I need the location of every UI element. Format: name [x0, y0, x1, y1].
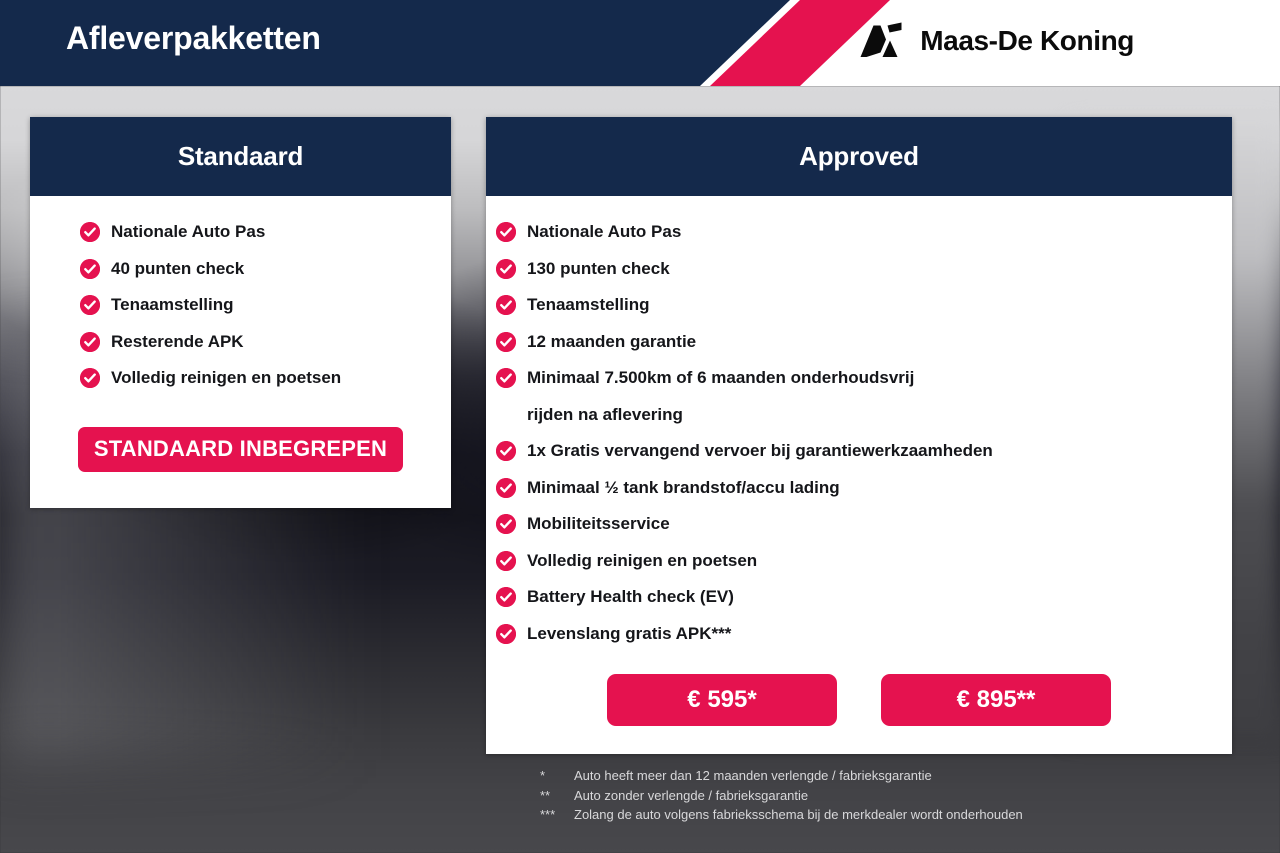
check-circle-icon [496, 259, 516, 279]
footnote-marker: ** [540, 786, 574, 806]
page-title: Afleverpakketten [66, 20, 321, 57]
footnote-text: Auto heeft meer dan 12 maanden verlengde… [574, 766, 932, 786]
footnote-row: *** Zolang de auto volgens fabrieksschem… [540, 805, 1023, 825]
package-header-standaard: Standaard [30, 117, 451, 196]
footnote-marker: * [540, 766, 574, 786]
price-button-row: € 595* € 895** [486, 652, 1232, 754]
afleverpakketten-page: Afleverpakketten Maas-De Koning Standaar… [0, 0, 1280, 853]
package-body-approved: Nationale Auto Pas 130 punten check Tena… [486, 196, 1232, 754]
price-button-595[interactable]: € 595* [607, 674, 837, 726]
feature-label: 12 maanden garantie [527, 324, 696, 361]
list-item: 1x Gratis vervangend vervoer bij garanti… [496, 433, 1232, 470]
check-circle-icon [496, 222, 516, 242]
list-item: Tenaamstelling [496, 287, 1232, 324]
page-header: Afleverpakketten Maas-De Koning [0, 0, 1280, 86]
feature-label-continuation: rijden na aflevering [527, 397, 914, 434]
check-circle-icon [496, 441, 516, 461]
feature-label: Battery Health check (EV) [527, 579, 734, 616]
list-item: Mobiliteitsservice [496, 506, 1232, 543]
feature-label: Minimaal ½ tank brandstof/accu lading [527, 470, 840, 507]
feature-label: Volledig reinigen en poetsen [527, 543, 757, 580]
feature-label: 130 punten check [527, 251, 670, 288]
check-circle-icon [496, 587, 516, 607]
check-circle-icon [496, 551, 516, 571]
check-circle-icon [496, 332, 516, 352]
check-circle-icon [496, 295, 516, 315]
footnote-row: * Auto heeft meer dan 12 maanden verleng… [540, 766, 1023, 786]
footnote-row: ** Auto zonder verlengde / fabrieksgaran… [540, 786, 1023, 806]
feature-list-approved: Nationale Auto Pas 130 punten check Tena… [0, 214, 1232, 652]
feature-label: Levenslang gratis APK*** [527, 616, 731, 653]
list-item: 130 punten check [496, 251, 1232, 288]
list-item: Minimaal 7.500km of 6 maanden onderhouds… [496, 360, 1232, 433]
list-item: Levenslang gratis APK*** [496, 616, 1232, 653]
package-title: Standaard [178, 141, 303, 172]
maas-de-koning-m-mark-icon [860, 21, 906, 61]
feature-label: Mobiliteitsservice [527, 506, 670, 543]
check-circle-icon [496, 478, 516, 498]
price-button-895[interactable]: € 895** [881, 674, 1111, 726]
package-header-approved: Approved [486, 117, 1232, 196]
feature-label: 1x Gratis vervangend vervoer bij garanti… [527, 433, 993, 470]
package-card-approved: Approved Nationale Auto Pas 130 punten c… [486, 117, 1232, 754]
list-item: Volledig reinigen en poetsen [496, 543, 1232, 580]
check-circle-icon [496, 624, 516, 644]
footnote-text: Auto zonder verlengde / fabrieksgarantie [574, 786, 808, 806]
check-circle-icon [496, 368, 516, 388]
feature-label: Minimaal 7.500km of 6 maanden onderhouds… [527, 360, 914, 397]
feature-label-group: Minimaal 7.500km of 6 maanden onderhouds… [527, 360, 914, 433]
feature-label: Tenaamstelling [527, 287, 650, 324]
list-item: Minimaal ½ tank brandstof/accu lading [496, 470, 1232, 507]
list-item: Battery Health check (EV) [496, 579, 1232, 616]
footnote-marker: *** [540, 805, 574, 825]
brand-name: Maas-De Koning [920, 25, 1134, 57]
package-title: Approved [799, 141, 919, 172]
footnotes: * Auto heeft meer dan 12 maanden verleng… [540, 766, 1023, 825]
list-item: 12 maanden garantie [496, 324, 1232, 361]
check-circle-icon [496, 514, 516, 534]
footnote-text: Zolang de auto volgens fabrieksschema bi… [574, 805, 1023, 825]
list-item: Nationale Auto Pas [496, 214, 1232, 251]
feature-label: Nationale Auto Pas [527, 214, 681, 251]
brand-logo: Maas-De Koning [860, 21, 1134, 61]
